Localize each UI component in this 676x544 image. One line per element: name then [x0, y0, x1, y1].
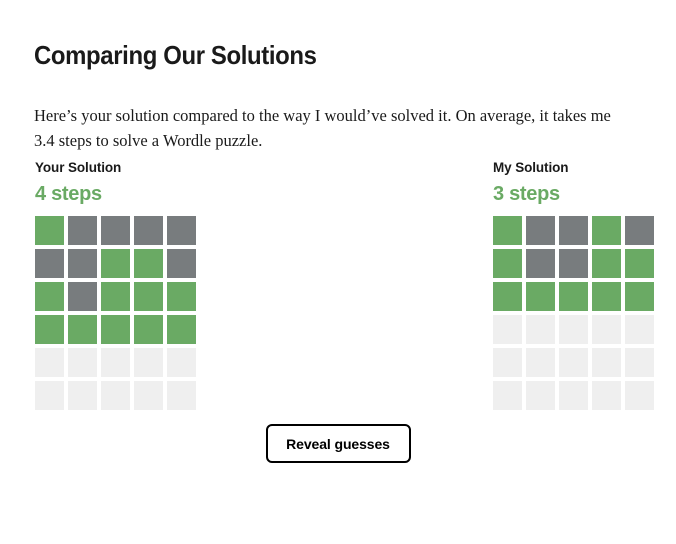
your-solution-column: Your Solution 4 steps — [35, 160, 196, 410]
reveal-button-row: Reveal guesses — [0, 424, 676, 463]
tile-correct — [134, 315, 163, 344]
your-solution-steps: 4 steps — [35, 182, 196, 206]
tile-correct — [493, 282, 522, 311]
tile-empty — [35, 348, 64, 377]
tile-absent — [68, 216, 97, 245]
my-solution-label: My Solution — [493, 160, 654, 176]
your-solution-grid — [35, 216, 196, 410]
tile-empty — [526, 315, 555, 344]
tile-correct — [559, 282, 588, 311]
tile-empty — [526, 381, 555, 410]
tile-correct — [592, 282, 621, 311]
tile-absent — [134, 216, 163, 245]
tile-empty — [592, 381, 621, 410]
tile-empty — [625, 381, 654, 410]
tile-absent — [559, 249, 588, 278]
tile-absent — [35, 249, 64, 278]
tile-correct — [101, 315, 130, 344]
tile-empty — [559, 315, 588, 344]
tile-empty — [68, 348, 97, 377]
tile-correct — [526, 282, 555, 311]
your-solution-label: Your Solution — [35, 160, 196, 176]
reveal-guesses-button[interactable]: Reveal guesses — [266, 424, 411, 463]
tile-correct — [167, 282, 196, 311]
tile-empty — [592, 315, 621, 344]
tile-correct — [167, 315, 196, 344]
tile-correct — [493, 216, 522, 245]
tile-correct — [493, 249, 522, 278]
tile-correct — [101, 282, 130, 311]
tile-empty — [101, 348, 130, 377]
tile-correct — [134, 282, 163, 311]
tile-empty — [68, 381, 97, 410]
tile-correct — [625, 249, 654, 278]
page-title: Comparing Our Solutions — [34, 39, 317, 71]
tile-absent — [167, 249, 196, 278]
tile-absent — [68, 282, 97, 311]
tile-absent — [101, 216, 130, 245]
tile-absent — [68, 249, 97, 278]
tile-empty — [592, 348, 621, 377]
comparison-panel: Comparing Our Solutions Here’s your solu… — [0, 0, 676, 544]
tile-empty — [101, 381, 130, 410]
tile-empty — [559, 381, 588, 410]
tile-correct — [592, 216, 621, 245]
tile-empty — [493, 381, 522, 410]
tile-correct — [101, 249, 130, 278]
tile-empty — [167, 381, 196, 410]
tile-absent — [526, 216, 555, 245]
tile-empty — [559, 348, 588, 377]
tile-correct — [592, 249, 621, 278]
intro-paragraph: Here’s your solution compared to the way… — [34, 103, 634, 153]
tile-correct — [625, 282, 654, 311]
tile-empty — [167, 348, 196, 377]
tile-correct — [35, 315, 64, 344]
tile-empty — [35, 381, 64, 410]
tile-empty — [134, 381, 163, 410]
tile-empty — [625, 315, 654, 344]
tile-empty — [493, 348, 522, 377]
tile-absent — [625, 216, 654, 245]
tile-empty — [134, 348, 163, 377]
tile-empty — [526, 348, 555, 377]
my-solution-grid — [493, 216, 654, 410]
tile-correct — [68, 315, 97, 344]
tile-empty — [625, 348, 654, 377]
tile-correct — [35, 282, 64, 311]
tile-absent — [559, 216, 588, 245]
my-solution-column: My Solution 3 steps — [493, 160, 654, 410]
tile-correct — [134, 249, 163, 278]
tile-absent — [167, 216, 196, 245]
tile-correct — [35, 216, 64, 245]
my-solution-steps: 3 steps — [493, 182, 654, 206]
tile-empty — [493, 315, 522, 344]
tile-absent — [526, 249, 555, 278]
